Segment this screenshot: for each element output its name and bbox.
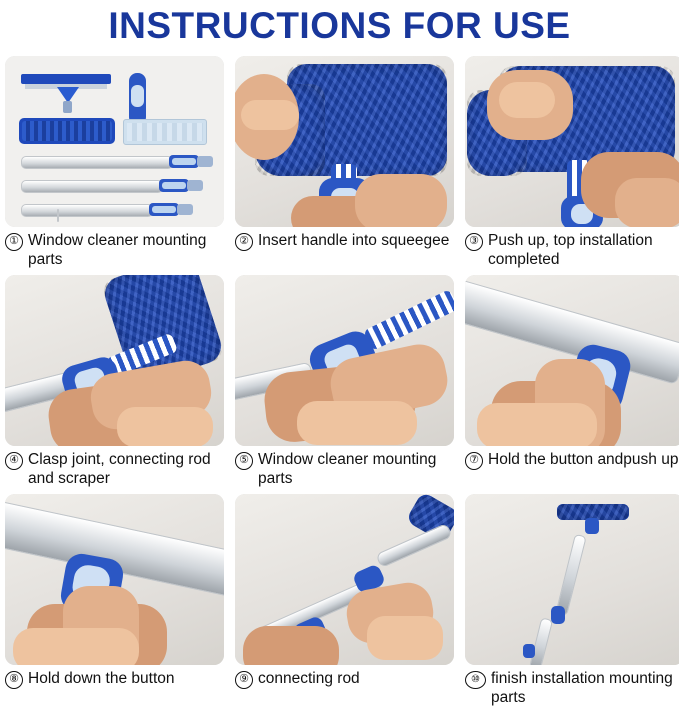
step-caption-8: ⑧ Hold down the button bbox=[5, 665, 224, 689]
photo-parts-layout bbox=[5, 56, 224, 227]
step-caption-2: ② Insert handle into squeegee bbox=[235, 227, 454, 251]
step-caption-10: ⑩ finish installation mounting parts bbox=[465, 665, 679, 707]
step-text-1: Window cleaner mounting parts bbox=[28, 231, 224, 269]
step-card-8: ⑧ Hold down the button bbox=[5, 494, 224, 707]
step-number-7: ⑦ bbox=[465, 452, 483, 470]
step-number-5: ⑤ bbox=[235, 452, 253, 470]
step-caption-9: ⑨ connecting rod bbox=[235, 665, 454, 689]
page-title: INSTRUCTIONS FOR USE bbox=[0, 0, 679, 48]
step-number-4: ④ bbox=[5, 452, 23, 470]
step-caption-5: ⑤ Window cleaner mounting parts bbox=[235, 446, 454, 488]
photo-hold-button-push-up bbox=[465, 275, 679, 446]
step-number-9: ⑨ bbox=[235, 671, 253, 689]
step-text-2: Insert handle into squeegee bbox=[258, 231, 454, 250]
step-number-3: ③ bbox=[465, 233, 483, 251]
step-number-1: ① bbox=[5, 233, 23, 251]
photo-connecting-rod bbox=[235, 494, 454, 665]
photo-finished-assembly bbox=[465, 494, 679, 665]
step-card-2: ② Insert handle into squeegee bbox=[235, 56, 454, 269]
step-card-4: ④ Clasp joint, connecting rod and scrape… bbox=[5, 275, 224, 488]
steps-grid: ① Window cleaner mounting parts ② bbox=[0, 48, 679, 707]
instructions-page: INSTRUCTIONS FOR USE bbox=[0, 0, 679, 717]
step-text-5: Window cleaner mounting parts bbox=[258, 450, 454, 488]
step-number-8: ⑧ bbox=[5, 671, 23, 689]
step-text-4: Clasp joint, connecting rod and scraper bbox=[28, 450, 224, 488]
step-text-8: Hold down the button bbox=[28, 669, 224, 688]
step-card-1: ① Window cleaner mounting parts bbox=[5, 56, 224, 269]
photo-push-up-top bbox=[465, 56, 679, 227]
step-card-3: ③ Push up, top installation completed bbox=[465, 56, 679, 269]
step-card-5: ⑤ Window cleaner mounting parts bbox=[235, 275, 454, 488]
step-text-7: Hold the button andpush up bbox=[488, 450, 679, 469]
photo-mounting-parts-hand bbox=[235, 275, 454, 446]
step-number-2: ② bbox=[235, 233, 253, 251]
step-text-9: connecting rod bbox=[258, 669, 454, 688]
step-text-10: finish installation mounting parts bbox=[491, 669, 679, 707]
step-caption-7: ⑦ Hold the button andpush up bbox=[465, 446, 679, 470]
step-text-3: Push up, top installation completed bbox=[488, 231, 679, 269]
photo-hold-down-button bbox=[5, 494, 224, 665]
step-card-9: ⑨ connecting rod bbox=[235, 494, 454, 707]
step-card-7: ⑦ Hold the button andpush up bbox=[465, 275, 679, 488]
step-number-10: ⑩ bbox=[465, 671, 486, 689]
step-caption-3: ③ Push up, top installation completed bbox=[465, 227, 679, 269]
photo-insert-handle bbox=[235, 56, 454, 227]
step-card-10: ⑩ finish installation mounting parts bbox=[465, 494, 679, 707]
step-caption-1: ① Window cleaner mounting parts bbox=[5, 227, 224, 269]
photo-clasp-joint bbox=[5, 275, 224, 446]
step-caption-4: ④ Clasp joint, connecting rod and scrape… bbox=[5, 446, 224, 488]
